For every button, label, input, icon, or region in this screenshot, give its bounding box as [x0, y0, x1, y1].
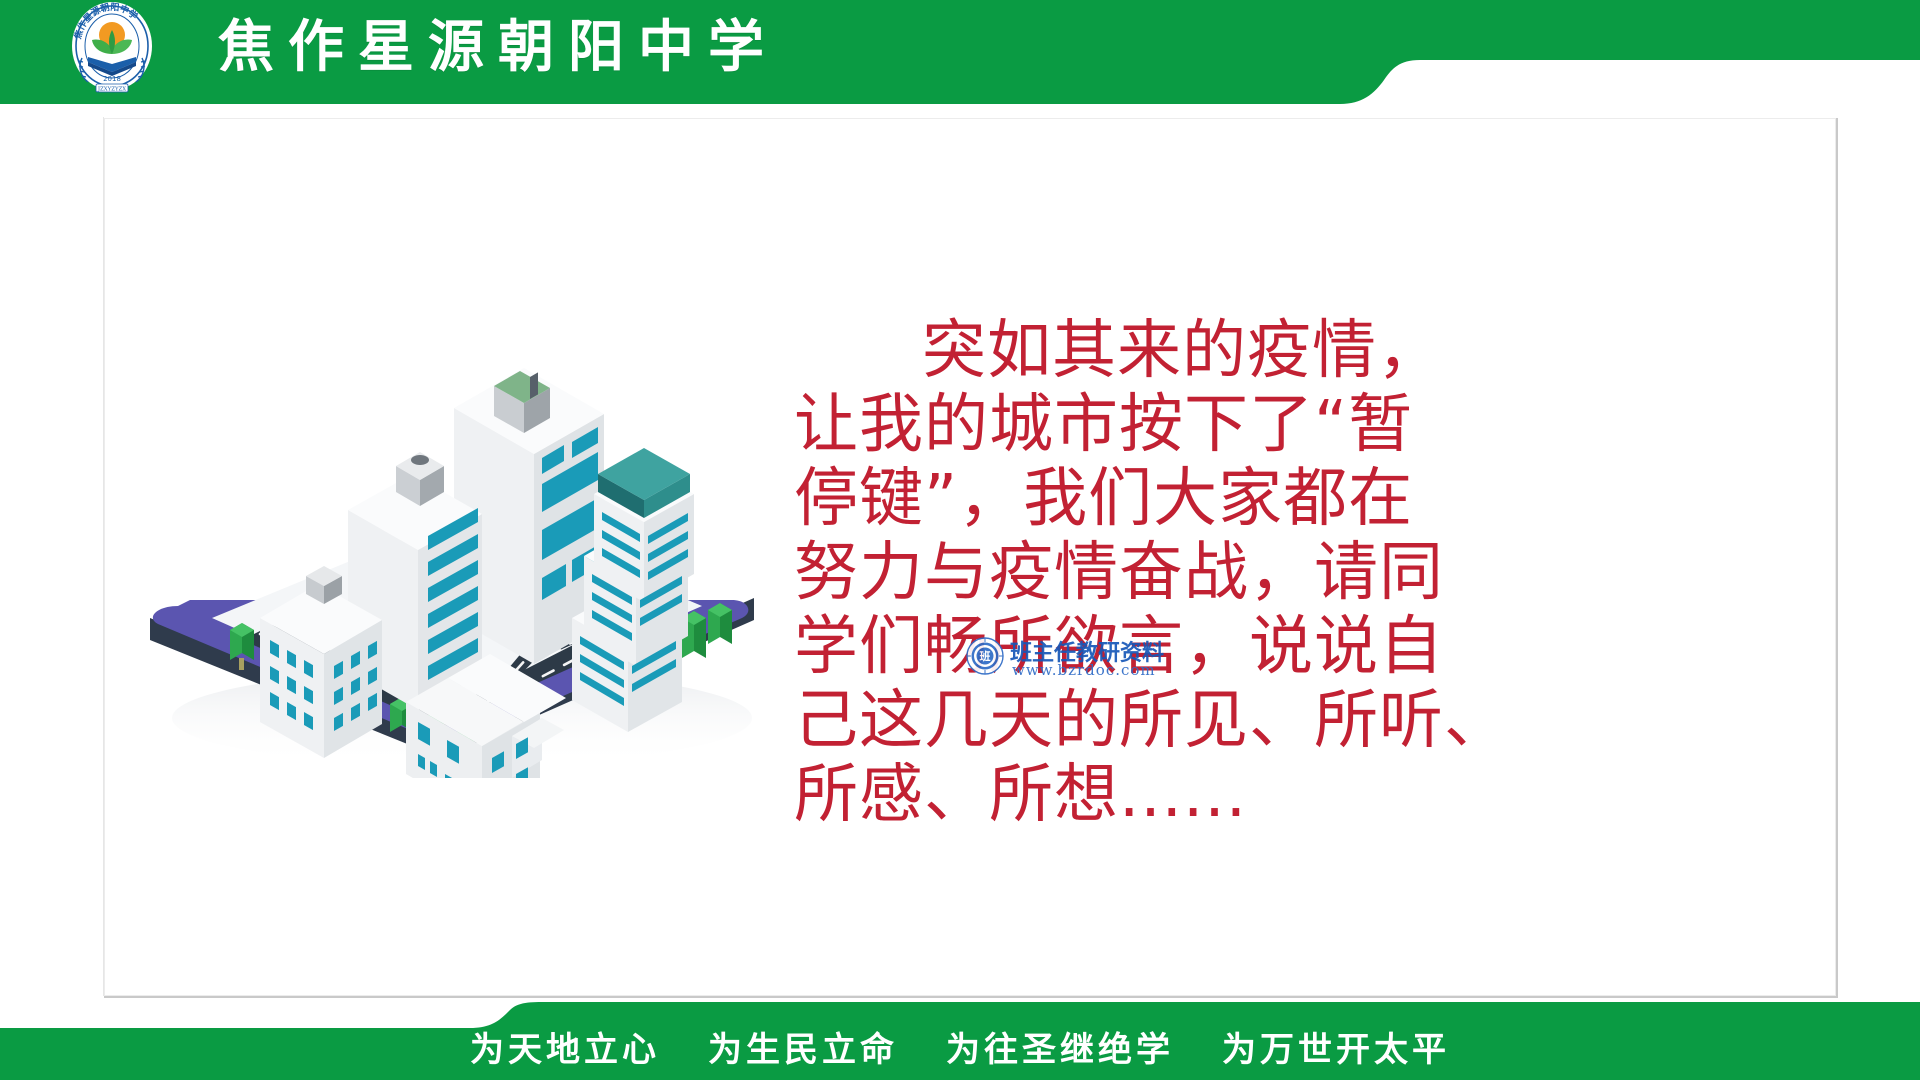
speech-line-6: 己这几天的所见、所听、 — [794, 684, 1494, 758]
speech-line-7: 所感、所想...... — [794, 758, 1494, 832]
speech-line-4: 努力与疫情奋战，请同 — [794, 536, 1494, 610]
motto-part-2: 为生民立命 — [708, 1030, 898, 1070]
school-name-title: 焦作星源朝阳中学 — [218, 8, 778, 86]
motto-part-1: 为天地立心 — [470, 1030, 660, 1070]
footer-banner: 为天地立心为生民立命为往圣继绝学为万世开太平 — [0, 1002, 1920, 1080]
svg-text:2018: 2018 — [103, 75, 121, 83]
speech-line-1: 突如其来的疫情， — [794, 314, 1494, 388]
slide-root: 焦作星源朝阳中学 2018 JZXYZYZX 焦作星源朝阳中学 — [0, 0, 1920, 1080]
city-illustration — [142, 288, 762, 778]
svg-text:JZXYZYZX: JZXYZYZX — [97, 87, 126, 93]
svg-text:焦作星源朝阳中学: 焦作星源朝阳中学 — [71, 2, 140, 41]
school-emblem-icon: 焦作星源朝阳中学 2018 JZXYZYZX — [52, 2, 172, 94]
motto-part-4: 为万世开太平 — [1222, 1030, 1450, 1070]
speech-text-block: 突如其来的疫情， 让我的城市按下了“暂 停键”，我们大家都在 努力与疫情奋战，请… — [794, 314, 1494, 832]
motto-part-3: 为往圣继绝学 — [946, 1030, 1174, 1070]
school-logo: 焦作星源朝阳中学 2018 JZXYZYZX — [52, 2, 172, 94]
speech-line-3: 停键”，我们大家都在 — [794, 462, 1494, 536]
speech-line-2: 让我的城市按下了“暂 — [794, 388, 1494, 462]
footer-motto: 为天地立心为生民立命为往圣继绝学为万世开太平 — [0, 1024, 1920, 1076]
header-banner: 焦作星源朝阳中学 2018 JZXYZYZX 焦作星源朝阳中学 — [0, 0, 1920, 112]
isometric-city-svg — [142, 288, 762, 778]
content-frame: 突如其来的疫情， 让我的城市按下了“暂 停键”，我们大家都在 努力与疫情奋战，请… — [104, 118, 1838, 998]
speech-line-5: 学们畅所欲言，说说自 — [794, 610, 1494, 684]
header-band-shape — [0, 0, 1920, 112]
